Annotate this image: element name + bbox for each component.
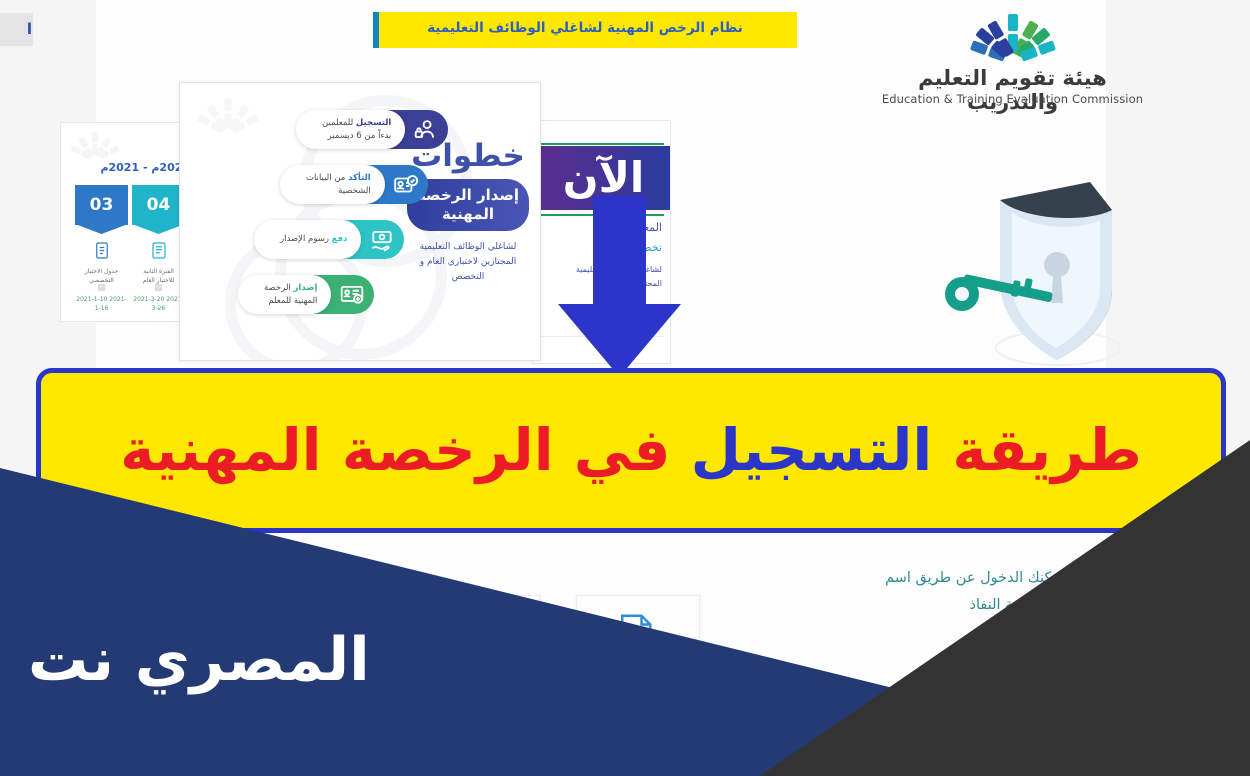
calendar-icon: ▦: [75, 283, 128, 293]
timeline-item-date: 2021-1-10 2021-1-16: [75, 295, 128, 313]
step-caption: التأكد من البيانات الشخصية: [280, 165, 385, 204]
timeline-watermark-icon: [67, 129, 123, 161]
step-title: دفع: [332, 234, 348, 244]
step-title: التأكد: [348, 173, 371, 183]
system-title-banner: نظام الرخص المهنية لشاغلي الوظائف التعلي…: [373, 12, 797, 48]
step-title: إصدار: [294, 283, 318, 293]
screenshot-root: ا نظام الرخص المهنية لشاغلي الوظائف التع…: [0, 0, 1250, 776]
headline-banner: طريقة التسجيل في الرخصة المهنية: [36, 368, 1226, 533]
headline-highlight: التسجيل: [691, 416, 933, 484]
down-arrow-icon: [557, 196, 682, 378]
step-caption: إصدار الرخصة المهنية للمعلم: [238, 275, 331, 314]
site-watermark: المصري نت: [28, 630, 370, 690]
id-card-check-icon: [393, 172, 419, 198]
etec-logo-mark: [965, 10, 1061, 62]
etec-logo-arabic: هيئة تقويم التعليم والتدريب: [880, 66, 1145, 114]
etec-logo: هيئة تقويم التعليم والتدريب Education & …: [880, 8, 1145, 113]
step-caption: التسجيل للمعلمين بدءاً من 6 ديسمبر: [296, 110, 405, 149]
step-title-rest: رسوم الإصدار: [280, 234, 332, 244]
step-subtitle: الشخصية: [306, 185, 371, 197]
timeline-item-date: 2021-3-20 2021-3-26: [132, 295, 185, 313]
corner-artifact-box: ا: [0, 13, 33, 46]
etec-logo-english: Education & Training Evaluation Commissi…: [880, 92, 1145, 106]
headline-part1: طريقة: [932, 416, 1142, 484]
calendar-icon: ▦: [132, 283, 185, 293]
step-item-01: 01 التسجيل للمعلمين بدءاً من 6 ديسمبر: [296, 110, 448, 149]
infographic-watermark-icon: [192, 93, 264, 137]
timeline-item: 04 الفترة الثانية للاختبار العام ▦ 2021-…: [132, 185, 185, 317]
certificate-icon: [339, 282, 365, 308]
corner-artifact-glyph: ا: [27, 20, 32, 38]
step-item-03: 03 دفع رسوم الإصدار: [254, 220, 404, 259]
document-icon: [75, 241, 128, 265]
infographic-description: لشاغلي الوظائف التعليمية المجتازين لاختب…: [407, 240, 529, 286]
timeline-item-number: 04: [132, 185, 185, 225]
step-subtitle: بدءاً من 6 ديسمبر: [322, 130, 391, 142]
headline-text: طريقة التسجيل في الرخصة المهنية: [120, 419, 1142, 483]
payment-icon: [369, 227, 395, 253]
shield-key-icon: [940, 170, 1155, 375]
infographic-right-column: خطوات إصدار الرخصة المهنية لشاغلي الوظائ…: [407, 141, 529, 285]
now-label: الآن: [563, 157, 645, 199]
step-item-04: 04 إصدار الرخصة المهنية للمعلم: [238, 275, 374, 314]
step-item-02: 02 التأكد من البيانات الشخصية: [280, 165, 428, 204]
timeline-item: 03 جدول الاختبار التخصصي ▦ 2021-1-10 202…: [75, 185, 128, 317]
step-title: التسجيل: [356, 118, 391, 128]
steps-infographic-card: 01 التسجيل للمعلمين بدءاً من 6 ديسمبر 02: [179, 82, 541, 361]
timeline-item-number: 03: [75, 185, 128, 225]
step-caption: دفع رسوم الإصدار: [254, 220, 361, 259]
step-title-rest: للمعلمين: [322, 118, 356, 128]
headline-part2: في الرخصة المهنية: [120, 416, 690, 484]
user-lock-icon: [413, 117, 439, 143]
divider-line-top: [539, 143, 664, 145]
system-title-text: نظام الرخص المهنية لشاغلي الوظائف التعلي…: [373, 20, 797, 36]
exam-icon: [132, 241, 185, 265]
step-title-rest: الرخصة: [264, 283, 294, 293]
step-title-rest: من البيانات: [306, 173, 348, 183]
step-subtitle: المهنية للمعلم: [264, 295, 317, 307]
